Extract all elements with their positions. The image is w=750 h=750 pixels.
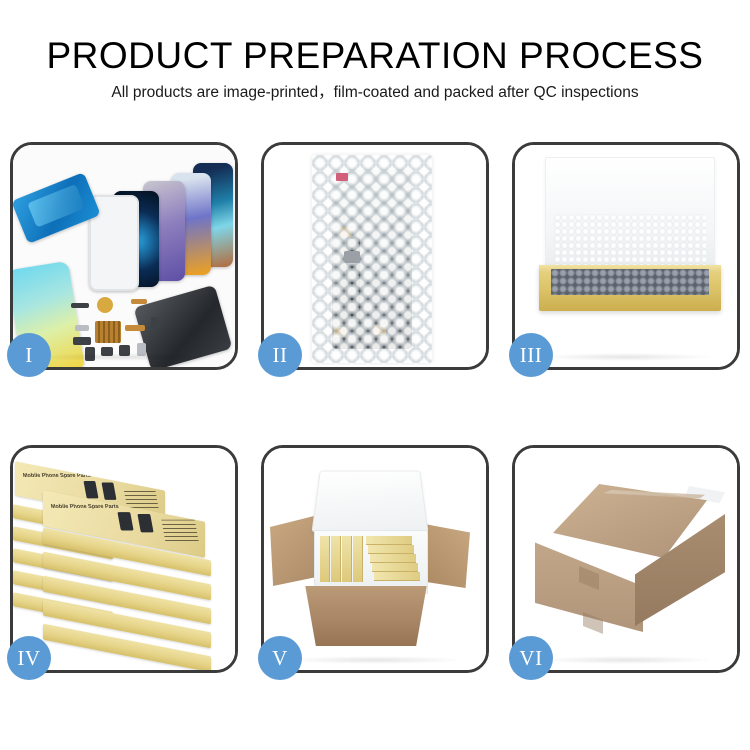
process-step-card-6: VI (512, 445, 740, 673)
blue-film-sheet (13, 172, 101, 244)
sealed-carton-scene (515, 448, 737, 670)
box-print-text-lines-2 (161, 520, 198, 541)
step-badge-1: I (7, 333, 51, 377)
box-print-label-2: Mobile Phone Spare Parts (50, 504, 119, 510)
process-step-card-2: II (261, 142, 489, 370)
copper-pad-top (340, 227, 352, 237)
step-6-image (515, 448, 737, 670)
step-4-image: Mobile Phone Spare Parts Mobile Phone Sp… (13, 448, 235, 670)
scene-shadow (537, 353, 715, 361)
copper-pad-right (374, 325, 386, 335)
phone-parts-scene (13, 145, 235, 367)
process-step-card-3: III (512, 142, 740, 370)
scene-shadow (286, 656, 464, 664)
yellow-tray-box (539, 265, 721, 311)
inner-yellow-boxes (320, 536, 420, 582)
bubble-wrap-scene (264, 145, 486, 367)
page-subtitle: All products are image-printed，film-coat… (0, 83, 750, 103)
open-carton-scene (264, 448, 486, 670)
product-preparation-page: PRODUCT PREPARATION PROCESS All products… (0, 0, 750, 750)
gray-foam-padding (551, 269, 709, 295)
page-title: PRODUCT PREPARATION PROCESS (0, 34, 750, 78)
scene-shadow (35, 353, 213, 361)
white-foam-lid (545, 157, 715, 277)
process-steps-grid: I II (10, 142, 740, 674)
box-print-label-1: Mobile Phone Spare Parts (22, 473, 91, 479)
step-badge-2: II (258, 333, 302, 377)
step-badge-3: III (509, 333, 553, 377)
foam-lid-open (311, 471, 428, 533)
step-badge-5: V (258, 636, 302, 680)
step-1-image (13, 145, 235, 367)
step-5-image (264, 448, 486, 670)
tray-box-scene (515, 145, 737, 367)
stacked-boxes-scene: Mobile Phone Spare Parts Mobile Phone Sp… (13, 448, 235, 670)
step-badge-6: VI (509, 636, 553, 680)
copper-pad-left (334, 327, 346, 337)
box-print-text-lines-1 (123, 488, 158, 508)
process-step-card-1: I (10, 142, 238, 370)
scene-shadow (537, 656, 715, 664)
connector-chip (344, 251, 360, 263)
step-3-image (515, 145, 737, 367)
sealed-carton (535, 484, 725, 636)
carton-body (300, 586, 432, 646)
step-badge-4: IV (7, 636, 51, 680)
bubble-wrap-pouch (312, 155, 432, 363)
step-2-image (264, 145, 486, 367)
flex-cable (346, 237, 360, 323)
red-protective-tab (336, 173, 348, 181)
process-step-card-4: Mobile Phone Spare Parts Mobile Phone Sp… (10, 445, 238, 673)
page-header: PRODUCT PREPARATION PROCESS All products… (0, 34, 750, 103)
process-step-card-5: V (261, 445, 489, 673)
